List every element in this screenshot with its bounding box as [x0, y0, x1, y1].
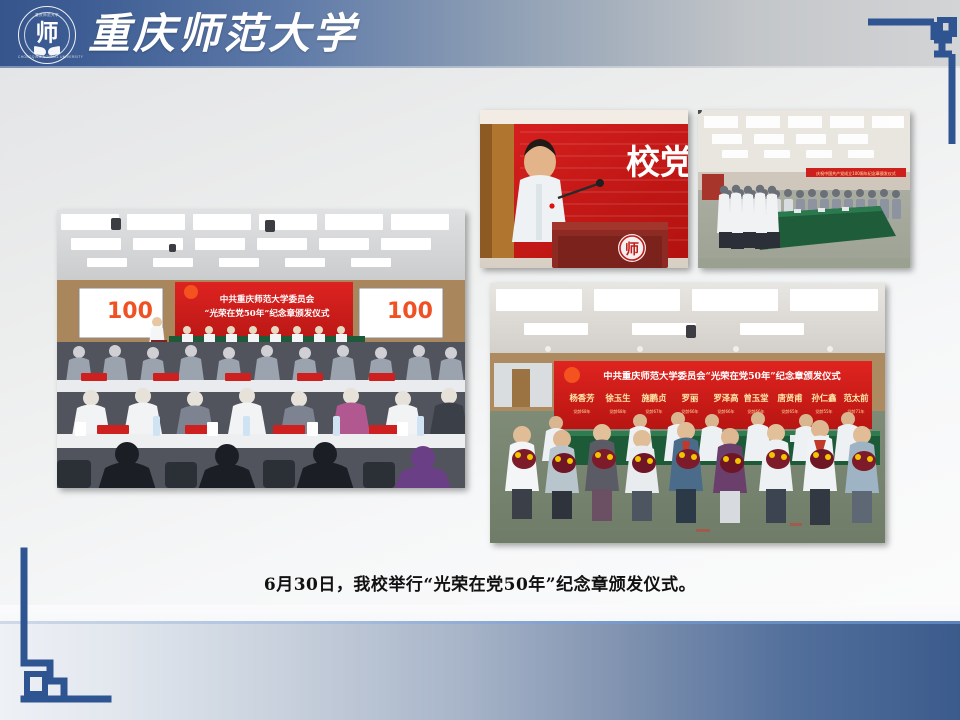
svg-text:中共重庆师范大学委员会: 中共重庆师范大学委员会 — [220, 293, 315, 305]
slide-header: 重庆师范大学 师 CHONGQING NORMAL UNIVERSITY 重庆师… — [0, 0, 960, 68]
svg-text:党龄66年: 党龄66年 — [717, 408, 734, 414]
bottom-white-strip — [0, 605, 960, 622]
photo-award-recipients-group: 中共重庆师范大学委员会“光荣在党50年”纪念章颁发仪式 杨香芳徐玉生施鹏贞 罗丽… — [490, 283, 885, 543]
svg-text:孙仁鑫: 孙仁鑫 — [811, 393, 837, 403]
svg-text:杨香芳: 杨香芳 — [569, 393, 595, 403]
svg-text:曾玉堂: 曾玉堂 — [743, 393, 769, 403]
svg-text:党龄68年: 党龄68年 — [609, 408, 626, 414]
slide-caption: 6月30日，我校举行“光荣在党50年”纪念章颁发仪式。 — [0, 570, 960, 595]
seal-open-book-icon — [34, 47, 60, 55]
university-name-title: 重庆师范大学 — [88, 2, 358, 66]
svg-text:100: 100 — [387, 299, 433, 324]
seal-center-glyph: 师 — [36, 21, 59, 44]
photo-attendees-standing: 庆祝中国共产党成立100周年纪念章颁发仪式 — [698, 110, 910, 268]
svg-text:施鹏贞: 施鹏贞 — [641, 393, 667, 403]
svg-text:徐玉生: 徐玉生 — [604, 393, 631, 403]
svg-text:罗泽高: 罗泽高 — [713, 393, 739, 403]
seal-arc-bottom-text: CHONGQING NORMAL UNIVERSITY — [18, 55, 76, 59]
photo-conference-audience: 100 100 中共重庆师范大学委员会 “光荣在党50年”纪念章颁发仪式 — [57, 210, 465, 488]
university-seal-icon: 重庆师范大学 师 CHONGQING NORMAL UNIVERSITY — [18, 6, 76, 64]
svg-text:党龄66年: 党龄66年 — [681, 408, 698, 414]
svg-text:中共重庆师范大学委员会“光荣在党50年”纪念章颁发仪式: 中共重庆师范大学委员会“光荣在党50年”纪念章颁发仪式 — [603, 370, 841, 382]
photo-speaker-at-podium: 校党 师 — [480, 110, 688, 268]
svg-text:100: 100 — [107, 299, 153, 324]
svg-text:“光荣在党50年”纪念章颁发仪式: “光荣在党50年”纪念章颁发仪式 — [205, 307, 330, 319]
corner-ornament-bottom-left-icon-overlay — [14, 547, 114, 712]
svg-text:党龄68年: 党龄68年 — [573, 408, 590, 414]
slide-root: 重庆师范大学 师 CHONGQING NORMAL UNIVERSITY 重庆师… — [0, 0, 960, 720]
svg-text:党龄65年: 党龄65年 — [781, 408, 798, 414]
svg-text:党龄55年: 党龄55年 — [815, 408, 832, 414]
header-underline — [0, 66, 960, 68]
svg-text:庆祝中国共产党成立100周年纪念章颁发仪式: 庆祝中国共产党成立100周年纪念章颁发仪式 — [816, 170, 896, 176]
svg-text:党龄67年: 党龄67年 — [645, 408, 662, 414]
bottom-gradient-band — [0, 624, 960, 720]
svg-text:罗丽: 罗丽 — [682, 393, 699, 403]
svg-text:师: 师 — [625, 241, 639, 258]
svg-text:范太前: 范太前 — [843, 393, 869, 403]
svg-text:唐贤甫: 唐贤甫 — [777, 393, 803, 403]
seal-arc-top-text: 重庆师范大学 — [18, 13, 76, 18]
svg-text:校党: 校党 — [626, 143, 688, 183]
